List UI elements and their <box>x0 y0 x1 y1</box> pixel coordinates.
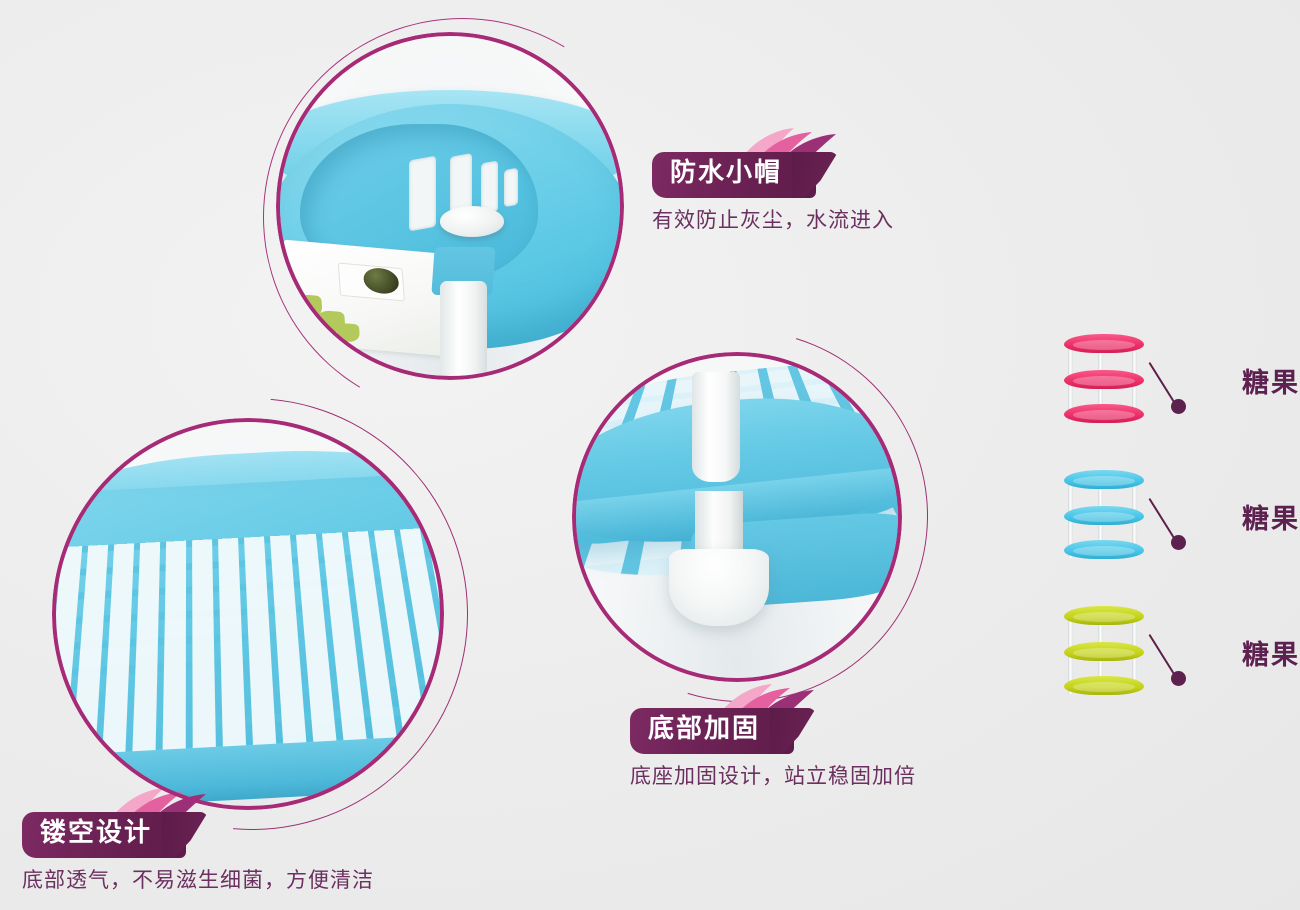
pin-connector-icon <box>1168 620 1228 684</box>
product-detail-page: 防水小帽 有效防止灰尘，水流进入 底部加固 底座加固设计，站立稳固加倍 镂空设计… <box>0 0 1300 910</box>
color-option-green[interactable]: 糖果绿 <box>1058 602 1300 702</box>
thumb-tier-top <box>1064 606 1145 625</box>
product-sticker <box>283 239 446 356</box>
vent-slot <box>409 156 436 232</box>
shelf-thumbnail-green <box>1058 602 1150 702</box>
vent-slot <box>504 167 518 207</box>
sticker-leaf <box>336 322 361 343</box>
photo-hollow-design <box>52 418 444 810</box>
waterproof-cap <box>440 206 505 237</box>
feature-title-badge: 镂空设计 <box>22 812 186 858</box>
badge-wrap: 镂空设计 <box>22 812 186 858</box>
color-option-blue[interactable]: 糖果蓝 <box>1058 466 1300 566</box>
photo-hollow-design-image <box>56 422 440 806</box>
color-option-label: 糖果绿 <box>1242 633 1300 672</box>
pin-connector-icon <box>1168 484 1228 548</box>
badge-wrap: 底部加固 <box>630 708 794 754</box>
color-option-label: 糖果蓝 <box>1242 497 1300 536</box>
support-pole-upper <box>692 372 740 481</box>
thumb-tier-top <box>1064 334 1145 353</box>
shelf-thumbnail-blue <box>1058 466 1150 566</box>
thumb-tier-middle <box>1064 506 1145 525</box>
feature-title-badge: 防水小帽 <box>652 152 816 198</box>
shelf-thumbnail-pink <box>1058 330 1150 430</box>
color-option-label: 糖果粉 <box>1242 361 1300 400</box>
feature-title-badge: 底部加固 <box>630 708 794 754</box>
photo-reinforced-base <box>572 352 902 682</box>
pin-dot <box>1171 671 1186 686</box>
photo-reinforced-base-image <box>576 356 898 678</box>
feature-description: 有效防止灰尘，水流进入 <box>652 204 894 234</box>
feature-description: 底部透气，不易滋生细菌，方便清洁 <box>22 864 374 894</box>
thumb-tier-bottom <box>1064 540 1145 559</box>
thumb-tier-bottom <box>1064 404 1145 423</box>
feature-description: 底座加固设计，站立稳固加倍 <box>630 760 916 790</box>
photo-waterproof-cap-image <box>280 36 620 376</box>
support-pole <box>440 281 488 376</box>
pin-connector-icon <box>1168 348 1228 412</box>
badge-wrap: 防水小帽 <box>652 152 816 198</box>
thumb-tier-top <box>1064 470 1145 489</box>
thumb-tier-bottom <box>1064 676 1145 695</box>
feature-waterproof-cap: 防水小帽 有效防止灰尘，水流进入 <box>652 152 894 234</box>
photo-waterproof-cap <box>276 32 624 380</box>
thumb-tier-middle <box>1064 642 1145 661</box>
pin-dot <box>1171 399 1186 414</box>
pin-dot <box>1171 535 1186 550</box>
feature-reinforced-base: 底部加固 底座加固设计，站立稳固加倍 <box>630 708 916 790</box>
thumb-tier-middle <box>1064 370 1145 389</box>
color-option-pink[interactable]: 糖果粉 <box>1058 330 1300 430</box>
feature-hollow-design: 镂空设计 底部透气，不易滋生细菌，方便清洁 <box>22 812 374 894</box>
reinforced-foot <box>669 549 769 626</box>
